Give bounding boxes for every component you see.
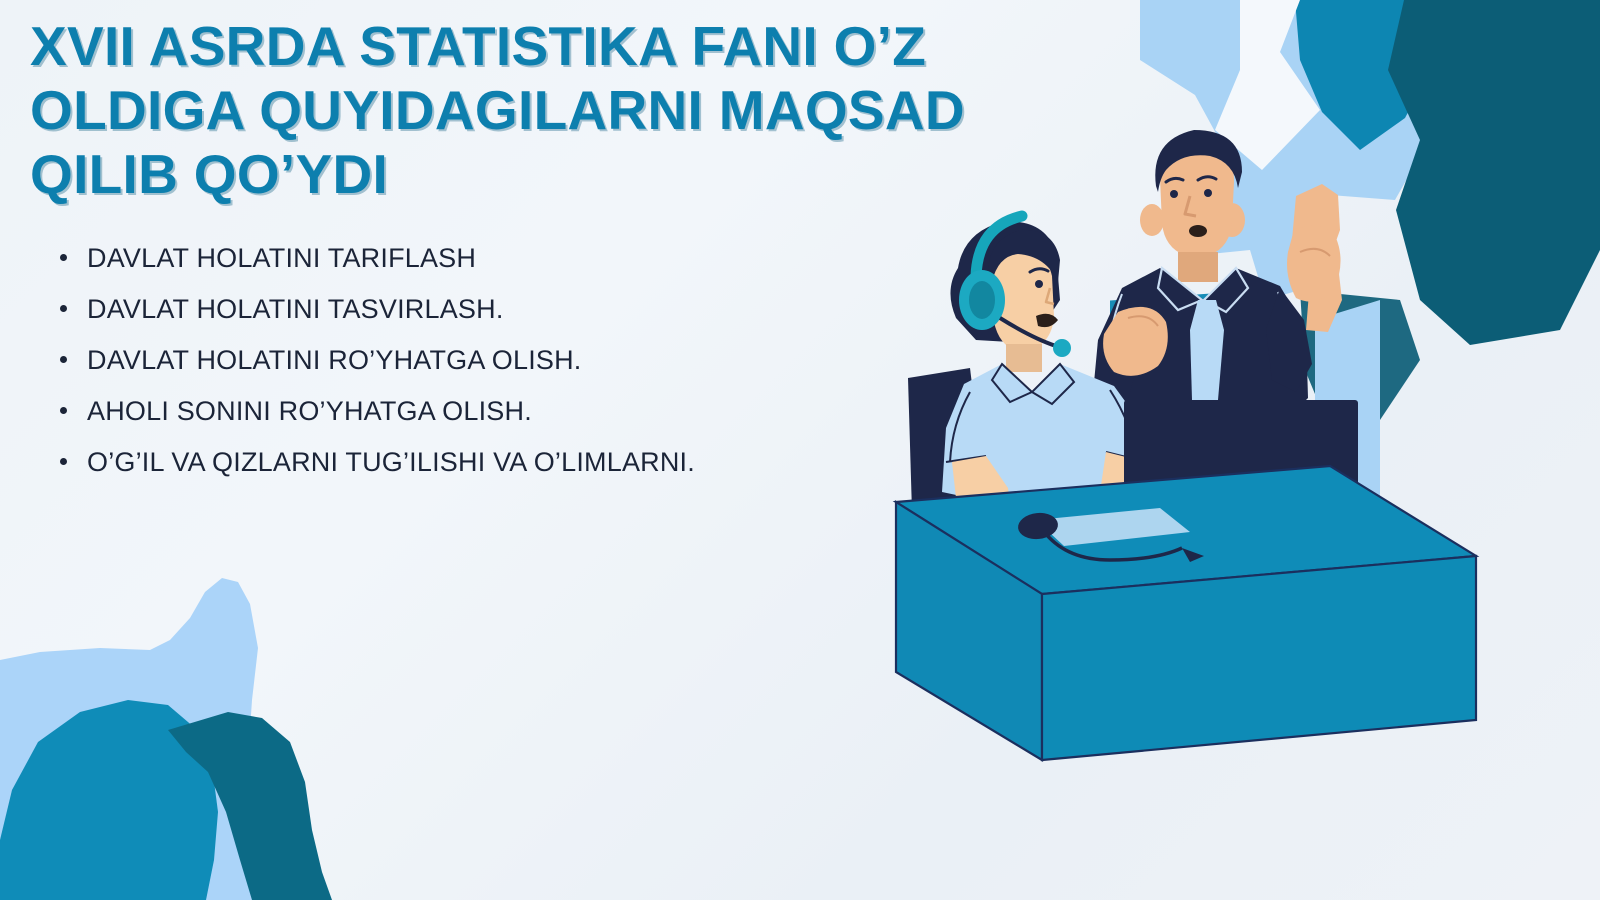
- office-desk: [896, 466, 1476, 760]
- title-line-3: QILIB QO’YDI: [30, 142, 1180, 206]
- woman-eye: [1035, 280, 1043, 288]
- bullet-dot-icon: [60, 254, 67, 261]
- shape-bottomleft-lightblue: [0, 578, 300, 900]
- title-line-1: XVII ASRDA STATISTIKA FANI O’Z: [30, 14, 1180, 78]
- man-right-wrist: [1287, 226, 1341, 302]
- bullet-dot-icon: [60, 458, 67, 465]
- man-ear-left: [1140, 204, 1164, 236]
- list-item-label: AHOLI SONINI RO’YHATGA OLISH.: [87, 396, 532, 427]
- list-item: DAVLAT HOLATINI TARIFLASH: [60, 243, 695, 294]
- list-item-label: DAVLAT HOLATINI TASVIRLASH.: [87, 294, 504, 325]
- presentation-slide: XVII ASRDA STATISTIKA FANI O’Z OLDIGA QU…: [0, 0, 1600, 900]
- list-item-label: DAVLAT HOLATINI RO’YHATGA OLISH.: [87, 345, 582, 376]
- man-eye-right: [1204, 189, 1212, 197]
- shape-bottomleft-darkteal: [168, 712, 332, 900]
- bullet-dot-icon: [60, 356, 67, 363]
- bullet-list: DAVLAT HOLATINI TARIFLASH DAVLAT HOLATIN…: [60, 243, 695, 498]
- title-line-2: OLDIGA QUYIDAGILARNI MAQSAD: [30, 78, 1180, 142]
- list-item: O’G’IL VA QIZLARNI TUG’ILISHI VA O’LIMLA…: [60, 447, 695, 498]
- shape-bottomleft-midteal: [0, 700, 218, 900]
- page-title: XVII ASRDA STATISTIKA FANI O’Z OLDIGA QU…: [30, 14, 1180, 206]
- bullet-dot-icon: [60, 305, 67, 312]
- headset-mic: [1053, 339, 1071, 357]
- bullet-dot-icon: [60, 407, 67, 414]
- man-mouth: [1189, 225, 1207, 237]
- list-item: DAVLAT HOLATINI TASVIRLASH.: [60, 294, 695, 345]
- list-item-label: O’G’IL VA QIZLARNI TUG’ILISHI VA O’LIMLA…: [87, 447, 695, 478]
- list-item: AHOLI SONINI RO’YHATGA OLISH.: [60, 396, 695, 447]
- list-item-label: DAVLAT HOLATINI TARIFLASH: [87, 243, 476, 274]
- list-item: DAVLAT HOLATINI RO’YHATGA OLISH.: [60, 345, 695, 396]
- woman-mouth: [1036, 314, 1058, 327]
